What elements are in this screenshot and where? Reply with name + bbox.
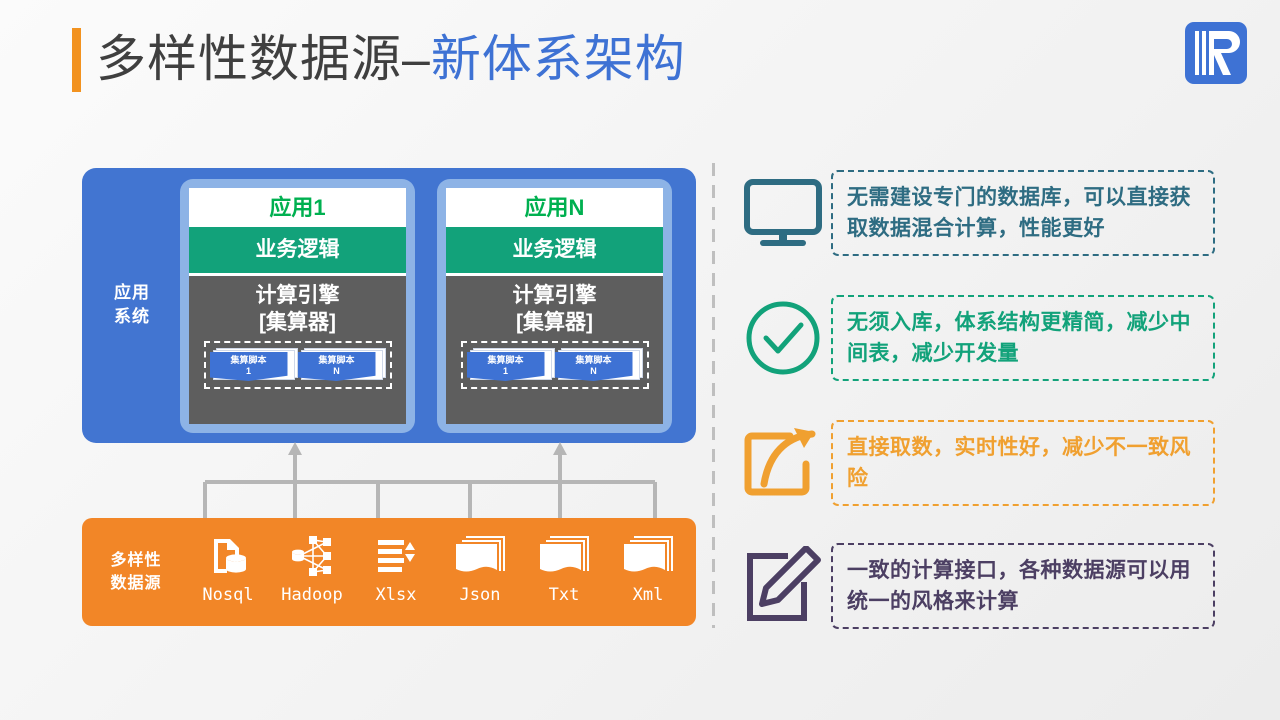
benefit-item-1: 无需建设专门的数据库，可以直接获取数据混合计算，性能更好: [735, 165, 1215, 261]
app-card-n-engine-line1: 计算引擎: [513, 282, 597, 309]
benefit-item-2: 无须入库，体系结构更精简，减少中间表，减少开发量: [735, 290, 1215, 386]
datasource-label: 多样性 数据源: [86, 549, 186, 595]
script-label: 集算脚本 1: [467, 352, 545, 381]
datasource-item-nosql[interactable]: Nosql: [186, 533, 270, 605]
app-card-n[interactable]: 应用N 业务逻辑 计算引擎 [集算器] 集算脚本 1: [437, 179, 672, 433]
app-card-n-business-logic: 业务逻辑: [446, 227, 663, 273]
script-label: 集算脚本 N: [298, 352, 376, 381]
script-item[interactable]: 集算脚本 N: [298, 348, 386, 382]
monitor-icon: [735, 168, 831, 258]
app-card-1-business-logic: 业务逻辑: [189, 227, 406, 273]
title-accent-bar: [72, 28, 81, 92]
slide-canvas: 多样性数据源–新体系架构 应用 系统 应用1 业务逻辑 计算引擎 [集算器]: [0, 0, 1280, 720]
xml-file-stack-icon: [620, 533, 676, 579]
datasource-items: Nosql: [186, 533, 696, 611]
benefit-item-3: 直接取数，实时性好，减少不一致风险: [735, 415, 1215, 511]
script-item[interactable]: 集算脚本 1: [467, 348, 555, 382]
datasource-connector-bus: [180, 440, 680, 530]
xlsx-rows-sort-icon: [374, 533, 418, 579]
script-label: 集算脚本 N: [555, 352, 633, 381]
panel-divider: [712, 163, 715, 628]
raqsoft-logo-icon: [1185, 22, 1247, 84]
app-card-1-title: 应用1: [189, 188, 406, 227]
page-title: 多样性数据源–新体系架构: [96, 22, 686, 96]
datasource-name: Txt: [549, 585, 580, 605]
script-item[interactable]: 集算脚本 1: [210, 348, 298, 382]
app-card-n-compute-engine: 计算引擎 [集算器] 集算脚本 1: [446, 276, 663, 424]
datasource-name: Xml: [633, 585, 664, 605]
app-card-n-title: 应用N: [446, 188, 663, 227]
datasource-name: Nosql: [202, 585, 253, 605]
txt-file-stack-icon: [536, 533, 592, 579]
datasource-name: Xlsx: [376, 585, 417, 605]
json-file-stack-icon: [452, 533, 508, 579]
hadoop-cluster-icon: [289, 533, 335, 579]
app-card-n-engine-line2: [集算器]: [516, 309, 593, 337]
edit-pencil-icon: [735, 541, 831, 631]
script-item[interactable]: 集算脚本 N: [555, 348, 643, 382]
app-card-1[interactable]: 应用1 业务逻辑 计算引擎 [集算器] 集算脚本 1: [180, 179, 415, 433]
benefit-text-1: 无需建设专门的数据库，可以直接获取数据混合计算，性能更好: [831, 170, 1215, 256]
benefit-text-2: 无须入库，体系结构更精简，减少中间表，减少开发量: [831, 295, 1215, 381]
check-circle-icon: [735, 293, 831, 383]
app-card-n-script-zone: 集算脚本 1 集算脚本 N: [461, 341, 649, 389]
app-card-1-engine-line2: [集算器]: [259, 309, 336, 337]
app-card-1-script-zone: 集算脚本 1 集算脚本 N: [204, 341, 392, 389]
datasource-name: Json: [460, 585, 501, 605]
benefit-text-4: 一致的计算接口，各种数据源可以用统一的风格来计算: [831, 543, 1215, 629]
nosql-document-database-icon: [206, 533, 250, 579]
app-card-1-engine-line1: 计算引擎: [256, 282, 340, 309]
page-title-highlight: 新体系架构: [431, 31, 686, 87]
datasource-item-json[interactable]: Json: [438, 533, 522, 605]
datasource-item-xlsx[interactable]: Xlsx: [354, 533, 438, 605]
datasource-item-txt[interactable]: Txt: [522, 533, 606, 605]
benefit-item-4: 一致的计算接口，各种数据源可以用统一的风格来计算: [735, 538, 1215, 634]
datasource-item-xml[interactable]: Xml: [606, 533, 690, 605]
datasource-name: Hadoop: [281, 585, 342, 605]
app-card-1-compute-engine: 计算引擎 [集算器] 集算脚本 1: [189, 276, 406, 424]
datasource-item-hadoop[interactable]: Hadoop: [270, 533, 354, 605]
application-system-label: 应用 系统: [88, 281, 176, 329]
datasource-bar: 多样性 数据源 Nosql: [82, 518, 696, 626]
benefit-text-3: 直接取数，实时性好，减少不一致风险: [831, 420, 1215, 506]
share-arrow-icon: [735, 418, 831, 508]
page-title-primary: 多样性数据源–: [96, 31, 431, 87]
script-label: 集算脚本 1: [210, 352, 288, 381]
